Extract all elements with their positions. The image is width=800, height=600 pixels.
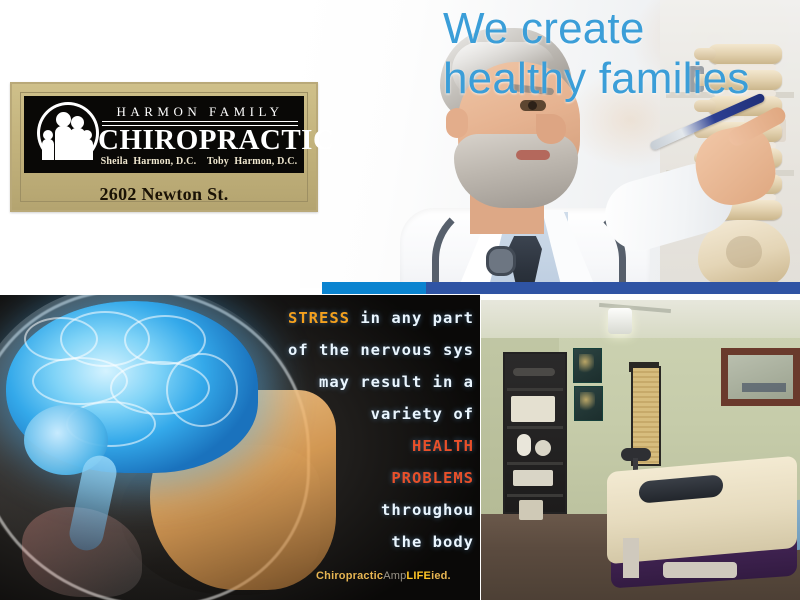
wall-mirror [721,348,800,406]
ear [446,108,468,138]
family-logo-icon [34,102,98,166]
watermark-part1: Chiropractic [316,570,383,582]
stress-line: variety of [371,405,474,423]
sign-black-plate: HARMON FAMILY CHIROPRACTIC Sheila Harmon… [24,96,304,173]
beard [454,134,578,208]
divider-bar-light [322,282,426,294]
treatment-room-photo [481,300,800,600]
page-headline: We create healthy families [443,4,749,104]
sign-doctor-names: Sheila Harmon, D.C. Toby Harmon, D.C. [98,156,300,167]
stress-message: STRESS in any part of the nervous sys ma… [240,301,480,593]
stress-line: HEALTH [412,437,474,455]
stethoscope-icon [432,200,626,288]
shelf-box [513,470,553,486]
stethoscope-chestpiece [486,246,516,276]
wall-art-lower [574,386,603,421]
mouth [516,150,550,160]
stress-nervous-system-panel: STRESS in any part of the nervous sys ma… [0,295,480,600]
stress-line: throughou [381,501,474,519]
watermark-part3: LIFE [406,570,431,582]
divider-bar-dark [426,282,800,294]
sign-address: 2602 Newton St. [12,184,316,205]
stress-line: PROBLEMS [391,469,474,487]
sign-top-line: HARMON FAMILY [102,104,298,120]
stress-line: the body [391,533,474,551]
stress-line: may result in a [319,373,474,391]
stress-line: of the nervous sys [288,341,474,359]
shelf-book [511,396,555,422]
bookshelf [503,352,567,514]
watermark-part2: Amp [383,570,406,582]
shelf-frame [519,500,543,520]
shelf-object [535,440,551,456]
track-light-icon [608,308,632,334]
watermark-part4: ied. [431,570,451,582]
shelf-bowl [513,368,555,376]
nose [536,114,566,144]
watermark: ChiropracticAmpLIFEied. [316,570,451,582]
table-foot-rail [663,562,737,578]
collage-canvas: We create healthy families HARMON FAMILY… [0,0,800,600]
table-leg [623,538,639,578]
wall-art-upper [573,348,602,383]
sign-main-line: CHIROPRACTIC [98,124,300,156]
practice-sign: HARMON FAMILY CHIROPRACTIC Sheila Harmon… [10,82,318,212]
shelf-vase [517,434,531,456]
stress-line: STRESS in any part [288,309,474,327]
rolling-stool [621,448,651,461]
